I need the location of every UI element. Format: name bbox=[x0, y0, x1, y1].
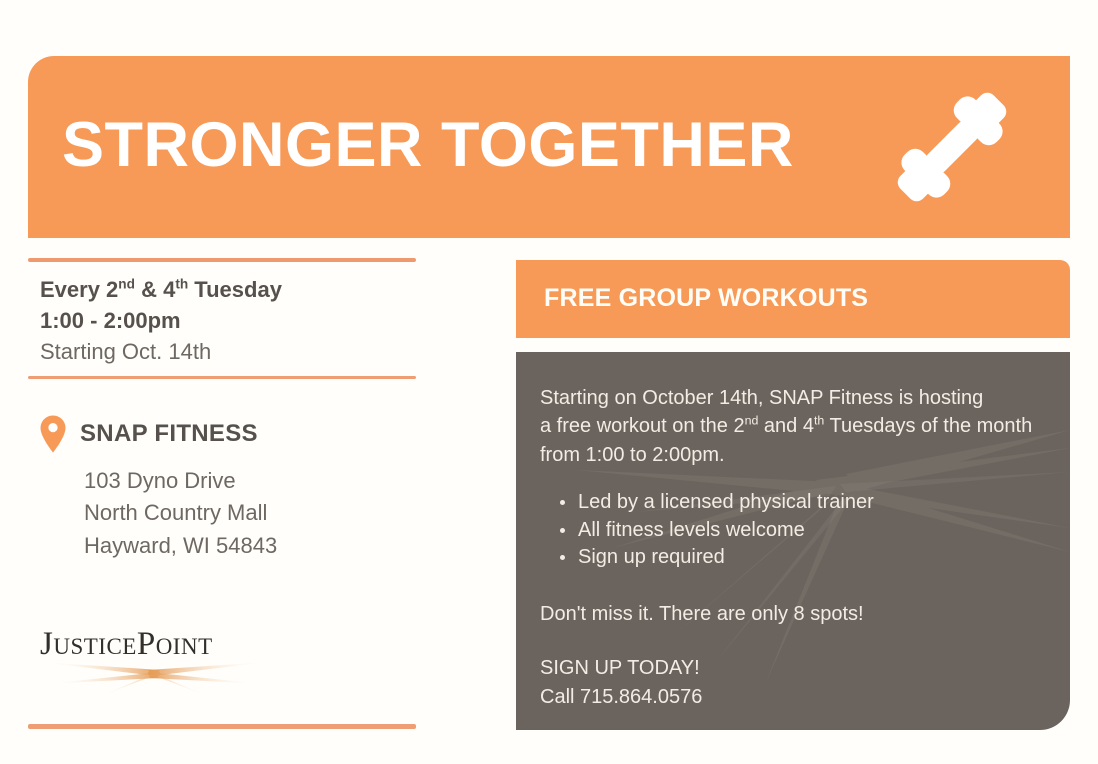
list-item: All fitness levels welcome bbox=[578, 517, 1044, 545]
venue-block: SNAP FITNESS 103 Dyno Drive North Countr… bbox=[28, 415, 416, 563]
paragraph-sup-1: nd bbox=[745, 414, 759, 428]
paragraph-line-1: Starting on October 14th, SNAP Fitness i… bbox=[540, 387, 983, 409]
schedule-day-mid: & 4 bbox=[135, 277, 175, 302]
page-title: STRONGER TOGETHER bbox=[62, 114, 794, 177]
panel-heading: FREE GROUP WORKOUTS bbox=[544, 284, 868, 313]
venue-header: SNAP FITNESS bbox=[40, 415, 416, 453]
address-line: North Country Mall bbox=[84, 497, 416, 530]
paragraph-line-2-suffix: Tuesdays of the month bbox=[824, 415, 1032, 437]
logo-text: JusticePoint bbox=[40, 628, 270, 661]
spots-notice: Don't miss it. There are only 8 spots! bbox=[540, 600, 1044, 628]
schedule-day-sup1: nd bbox=[118, 277, 135, 292]
paragraph-line-2-prefix: a free workout on the 2 bbox=[540, 415, 745, 437]
panel-heading-bar: FREE GROUP WORKOUTS bbox=[516, 260, 1070, 338]
list-item: Led by a licensed physical trainer bbox=[578, 489, 1044, 517]
schedule-time: 1:00 - 2:00pm bbox=[40, 305, 416, 336]
flyer-page: STRONGER TOGETHER Every 2nd & 4th Tuesda… bbox=[0, 0, 1098, 764]
paragraph-line-2-mid: and 4 bbox=[758, 415, 814, 437]
header-banner: STRONGER TOGETHER bbox=[28, 56, 1070, 238]
schedule-day-suffix: Tuesday bbox=[188, 277, 282, 302]
address-line: 103 Dyno Drive bbox=[84, 465, 416, 498]
justicepoint-logo: JusticePoint bbox=[40, 628, 270, 698]
schedule-day-sup2: th bbox=[175, 277, 188, 292]
signup-block: SIGN UP TODAY! Call 715.864.0576 bbox=[540, 654, 1044, 711]
paragraph-line-3: from 1:00 to 2:00pm. bbox=[540, 444, 725, 466]
left-column: Every 2nd & 4th Tuesday 1:00 - 2:00pm St… bbox=[28, 258, 416, 563]
paragraph-sup-2: th bbox=[814, 414, 824, 428]
divider-middle bbox=[28, 376, 416, 379]
panel-body: Starting on October 14th, SNAP Fitness i… bbox=[516, 352, 1070, 730]
panel-paragraph: Starting on October 14th, SNAP Fitness i… bbox=[540, 384, 1044, 469]
schedule-day-prefix: Every 2 bbox=[40, 277, 118, 302]
schedule-day: Every 2nd & 4th Tuesday bbox=[40, 274, 416, 305]
location-pin-icon bbox=[40, 415, 66, 453]
panel-content: Starting on October 14th, SNAP Fitness i… bbox=[516, 352, 1070, 711]
divider-bottom bbox=[28, 724, 416, 729]
venue-address: 103 Dyno Drive North Country Mall Haywar… bbox=[40, 465, 416, 563]
dumbbell-icon bbox=[872, 71, 1032, 223]
venue-name: SNAP FITNESS bbox=[80, 420, 258, 448]
schedule-block: Every 2nd & 4th Tuesday 1:00 - 2:00pm St… bbox=[28, 262, 416, 376]
signup-title: SIGN UP TODAY! bbox=[540, 654, 1044, 682]
benefits-list: Led by a licensed physical trainer All f… bbox=[540, 489, 1044, 572]
list-item: Sign up required bbox=[578, 544, 1044, 572]
schedule-start-date: Starting Oct. 14th bbox=[40, 336, 416, 367]
signup-phone: Call 715.864.0576 bbox=[540, 683, 1044, 711]
address-line: Hayward, WI 54843 bbox=[84, 530, 416, 563]
